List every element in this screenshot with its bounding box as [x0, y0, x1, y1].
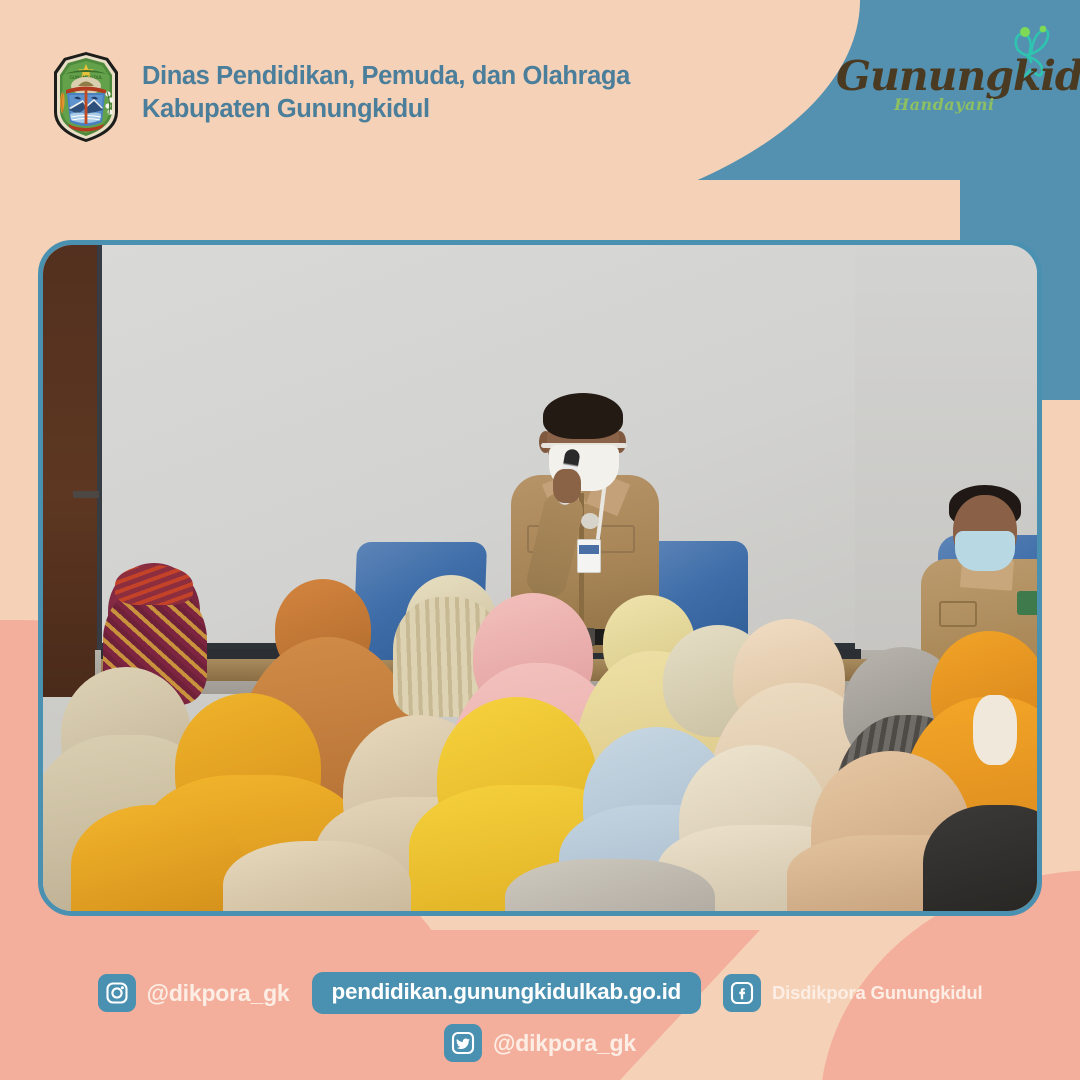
- audience-member-hijab: [223, 841, 411, 916]
- face-mask: [973, 695, 1017, 765]
- speaker-hair: [543, 393, 623, 439]
- facebook-icon[interactable]: [723, 974, 761, 1012]
- twitter-label: @dikpora_gk: [493, 1030, 636, 1057]
- twitter-icon[interactable]: [444, 1024, 482, 1062]
- instagram-handle[interactable]: @dikpora_gk: [98, 974, 290, 1012]
- screen-bracket: [73, 491, 99, 498]
- official-pocket: [939, 601, 977, 627]
- brand-tagline: Handayani: [894, 95, 995, 114]
- audience-member-yellow-hijab: [71, 805, 245, 916]
- instagram-icon[interactable]: [98, 974, 136, 1012]
- social-media-footer: @dikpora_gk pendidikan.gunungkidulkab.go…: [0, 972, 1080, 1062]
- title-line-2: Kabupaten Gunungkidul: [142, 93, 630, 126]
- audience-member-hijab: [505, 859, 715, 916]
- footer-row-primary: @dikpora_gk pendidikan.gunungkidulkab.go…: [0, 972, 1080, 1014]
- social-media-poster: GUNUNGKIDUL Dinas P: [0, 0, 1080, 1080]
- event-photo: [43, 245, 1037, 911]
- twitter-handle[interactable]: @dikpora_gk: [444, 1024, 636, 1062]
- facebook-handle[interactable]: Disdikpora Gunungkidul: [723, 974, 982, 1012]
- page-title: Dinas Pendidikan, Pemuda, dan Olahraga K…: [142, 50, 630, 125]
- speaker-hand: [553, 469, 581, 503]
- hijab-headband: [115, 565, 193, 605]
- room-door: [43, 245, 97, 697]
- event-photo-frame: [38, 240, 1042, 916]
- poster-header: GUNUNGKIDUL Dinas P: [48, 50, 630, 144]
- instagram-label: @dikpora_gk: [147, 980, 290, 1007]
- speaker-pocket: [599, 525, 635, 553]
- id-badge-photo: [579, 545, 599, 554]
- lanyard-clip: [581, 513, 599, 529]
- uniform-patch: [1017, 591, 1039, 615]
- face-mask: [955, 531, 1015, 571]
- gunungkidul-brand-logo: Gunungkidul Handayani: [832, 22, 1062, 130]
- gunungkidul-regency-crest-icon: GUNUNGKIDUL: [48, 50, 124, 144]
- brand-wordmark: Gunungkidul: [836, 52, 1080, 100]
- title-line-1: Dinas Pendidikan, Pemuda, dan Olahraga: [142, 60, 630, 93]
- footer-row-secondary: @dikpora_gk: [0, 1024, 1080, 1062]
- website-url-pill[interactable]: pendidikan.gunungkidulkab.go.id: [312, 972, 701, 1014]
- facebook-label: Disdikpora Gunungkidul: [772, 982, 982, 1004]
- audience-member-dark-hijab: [923, 805, 1042, 916]
